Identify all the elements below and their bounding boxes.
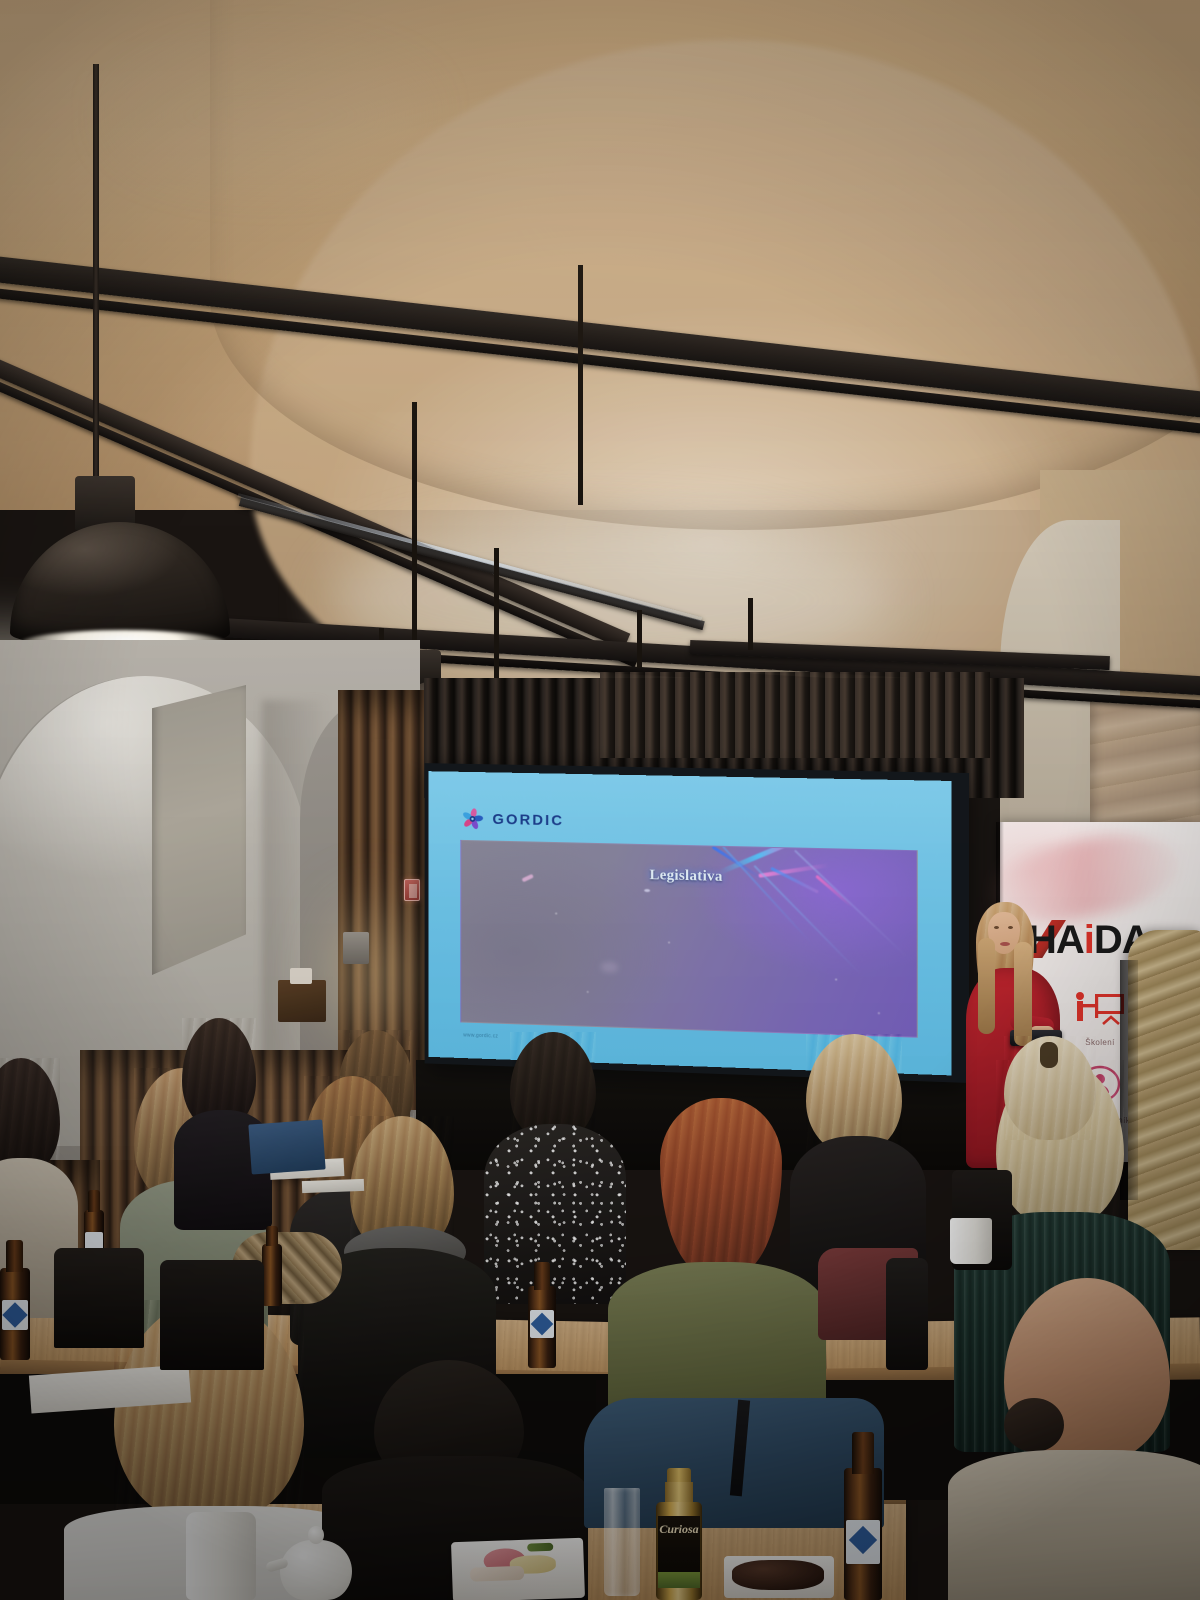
conference-photo-scene: GORDIC Legislativa www.gordic.cz [0, 0, 1200, 1600]
haida-logo-i: i [1084, 918, 1094, 962]
gordic-pinwheel-logo [461, 807, 483, 830]
chair-back [160, 1260, 264, 1370]
paper-cup [950, 1218, 992, 1264]
food-plate [451, 1538, 585, 1600]
wall-sconce-uplight [343, 932, 369, 964]
chair-back [886, 1258, 928, 1370]
milk-pitcher [186, 1512, 256, 1600]
beer-bottle [262, 1244, 282, 1306]
condiment-caddy [278, 980, 326, 1022]
dessert-plate [724, 1556, 834, 1598]
attendee-front-bald-man [958, 1278, 1200, 1600]
laptop [248, 1119, 325, 1174]
wall-niche [152, 685, 246, 975]
slide-brand-header: GORDIC [461, 807, 564, 832]
white-teapot [270, 1526, 362, 1600]
lamp-drop-rod [93, 64, 99, 484]
attendee-back-3 [182, 1018, 264, 1208]
drinking-glass [604, 1488, 640, 1596]
gordic-brand-text: GORDIC [492, 811, 564, 829]
juice-bottle: Curiosa [656, 1468, 702, 1600]
notebook-paper [302, 1179, 364, 1193]
slide-footer-url: www.gordic.cz [463, 1032, 498, 1039]
lamp-drop-rod [578, 265, 583, 505]
juice-bottle-label-text: Curiosa [658, 1522, 700, 1537]
attendee-back-6 [494, 1032, 614, 1282]
attendee-right-ponytail [1004, 1036, 1100, 1166]
projection-screen: GORDIC Legislativa www.gordic.cz [428, 771, 951, 1075]
chair-back [54, 1248, 144, 1348]
emergency-exit-sign [404, 879, 420, 901]
lamp-drop-rod [412, 402, 417, 642]
